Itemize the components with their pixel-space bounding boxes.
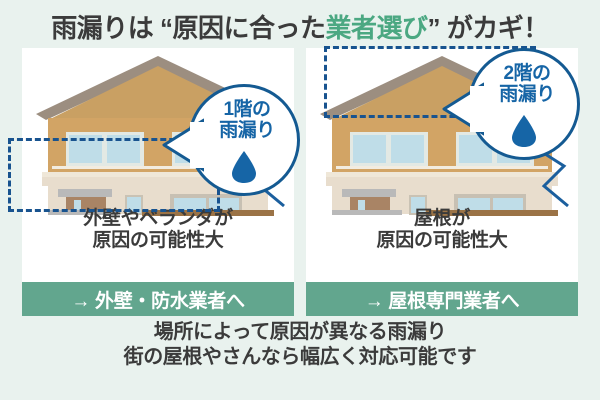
speech-bubble-tail-left [160, 118, 204, 172]
title-text-highlight: 業者選び [325, 13, 427, 43]
water-drop-icon [231, 150, 257, 184]
title-text-post: ” がカギ！ [428, 13, 549, 43]
footer-message: 場所によって原因が異なる雨漏り 街の屋根やさんなら幅広く対応可能です [0, 320, 600, 370]
footer-line-1: 場所によって原因が異なる雨漏り [0, 320, 600, 345]
page-title: 雨漏りは “原因に合った業者選び” がカギ！ [0, 8, 600, 45]
banner-exterior-wall-contractor[interactable]: → 外壁・防水業者へ [22, 282, 294, 316]
footer-line-2: 街の屋根やさんなら幅広く対応可能です [0, 345, 600, 370]
water-drop-icon [511, 114, 537, 148]
callout-line-1: 1階の [191, 100, 303, 121]
callout-text-first-floor: 1階の 雨漏り [191, 100, 303, 141]
banner-roof-specialist-contractor[interactable]: → 屋根専門業者へ [306, 282, 578, 316]
callout-line-2: 雨漏り [191, 121, 303, 142]
callout-second-floor-leak: 2階の 雨漏り [468, 48, 580, 160]
title-text-pre: 雨漏りは “原因に合った [51, 13, 325, 43]
caption-first-floor: 外壁やベランダが 原因の可能性大 [22, 208, 294, 252]
callout-line-1: 2階の [471, 64, 583, 85]
callout-line-2: 雨漏り [471, 85, 583, 106]
callout-text-second-floor: 2階の 雨漏り [471, 64, 583, 105]
caption-line-2: 原因の可能性大 [306, 230, 578, 252]
callout-first-floor-leak: 1階の 雨漏り [188, 84, 300, 196]
speech-bubble-tail-right [440, 82, 484, 136]
infographic-root: 雨漏りは “原因に合った業者選び” がカギ！ [0, 0, 600, 400]
caption-line-1: 屋根が [306, 208, 578, 230]
caption-second-floor: 屋根が 原因の可能性大 [306, 208, 578, 252]
caption-line-2: 原因の可能性大 [22, 230, 294, 252]
